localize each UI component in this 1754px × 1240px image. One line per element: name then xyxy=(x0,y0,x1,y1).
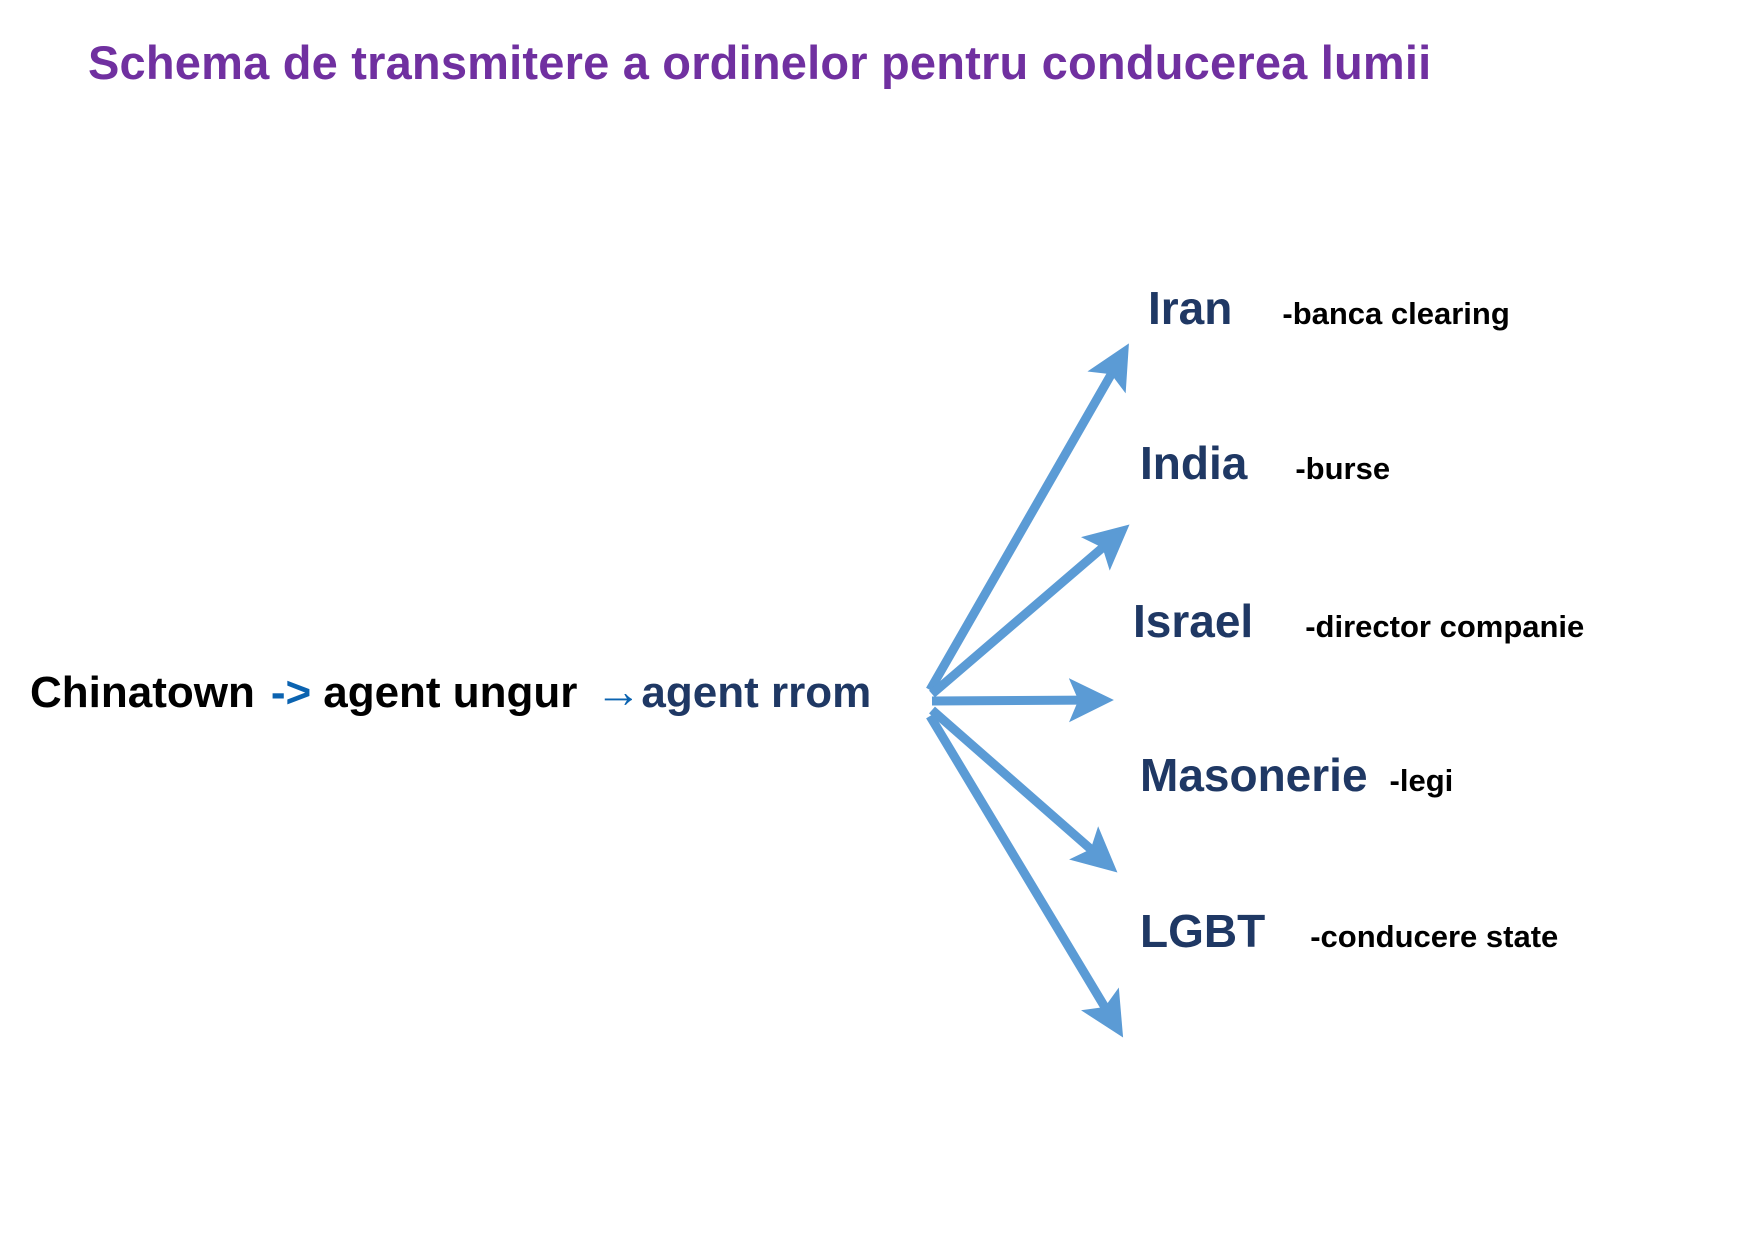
arrow-to-masonerie xyxy=(932,710,1110,866)
arrow-to-lgbt xyxy=(930,716,1118,1029)
target-desc-masonerie: -legi xyxy=(1390,765,1454,796)
target-row-lgbt: LGBT -conducere state xyxy=(1140,908,1558,954)
target-desc-lgbt: -conducere state xyxy=(1310,921,1558,952)
target-desc-israel: -director companie xyxy=(1305,611,1584,642)
target-label-iran: Iran xyxy=(1148,285,1232,331)
chain-node-agent-ungur: agent ungur xyxy=(323,668,577,717)
arrow-to-iran xyxy=(930,352,1124,690)
target-row-india: India -burse xyxy=(1140,440,1390,486)
target-desc-iran: -banca clearing xyxy=(1282,298,1509,329)
chain-node-agent-rrom: agent rrom xyxy=(641,668,871,717)
target-label-masonerie: Masonerie xyxy=(1140,752,1368,798)
target-row-israel: Israel -director companie xyxy=(1133,598,1584,644)
chain-connector-2-icon: → xyxy=(595,665,641,717)
chain-connector-1-icon: -> xyxy=(271,668,311,717)
target-desc-india: -burse xyxy=(1295,453,1390,484)
target-row-masonerie: Masonerie -legi xyxy=(1140,752,1453,798)
source-chain: Chinatown->agent ungur→agent rrom xyxy=(30,668,871,715)
target-label-israel: Israel xyxy=(1133,598,1253,644)
chain-node-chinatown: Chinatown xyxy=(30,668,255,717)
arrow-to-india xyxy=(932,531,1122,694)
slide-canvas: Schema de transmitere a ordinelor pentru… xyxy=(0,0,1754,1240)
target-row-iran: Iran -banca clearing xyxy=(1148,285,1510,331)
target-label-lgbt: LGBT xyxy=(1140,908,1265,954)
arrow-to-israel xyxy=(932,700,1104,701)
target-label-india: India xyxy=(1140,440,1247,486)
